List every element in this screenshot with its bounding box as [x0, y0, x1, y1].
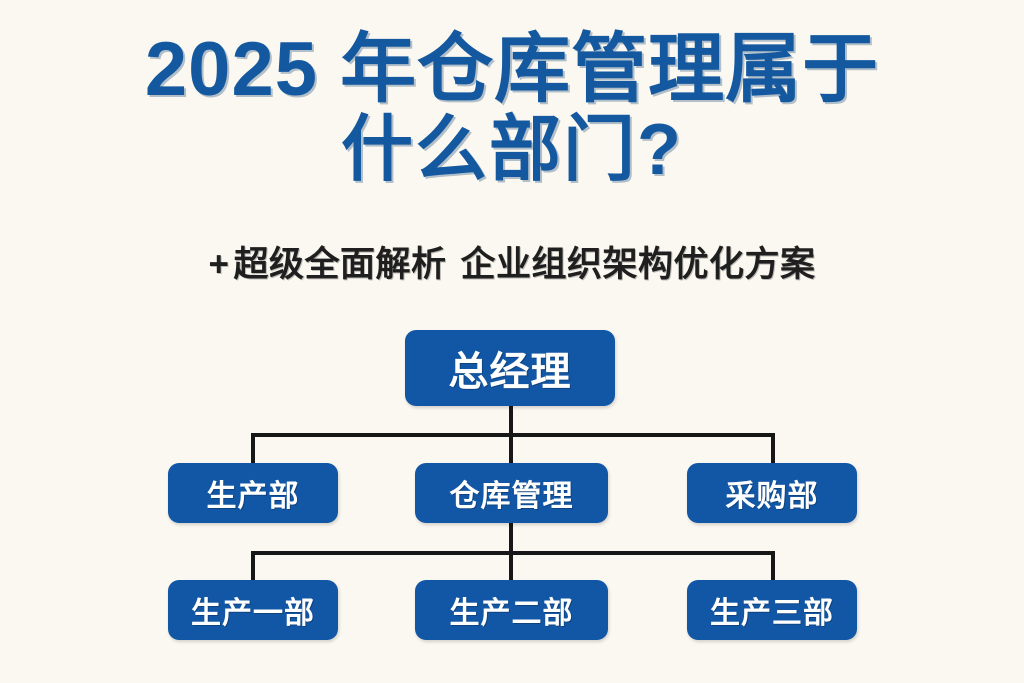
org-node-purchasing[interactable]: 采购部	[687, 463, 857, 523]
plus-sign: +	[209, 245, 230, 284]
connector-drop-warehouse	[509, 433, 513, 465]
page-subtitle-part-1: 超级全面解析	[233, 245, 446, 284]
poster-canvas: 2025 年仓库管理属于 什么部门? +超级全面解析企业组织架构优化方案 总经理…	[0, 0, 1024, 683]
connector-drop-production-2	[509, 551, 513, 583]
org-node-production-1[interactable]: 生产一部	[168, 580, 338, 640]
org-node-label: 总经理	[449, 339, 572, 397]
org-node-production-2[interactable]: 生产二部	[415, 580, 608, 640]
connector-level2-bar	[251, 433, 775, 437]
org-node-label: 采购部	[726, 471, 819, 515]
connector-drop-production	[251, 433, 255, 465]
connector-level3-bar	[251, 551, 775, 555]
page-title-line-2: 什么部门?	[0, 110, 1024, 190]
org-node-warehouse[interactable]: 仓库管理	[415, 463, 608, 523]
connector-drop-purchasing	[771, 433, 775, 465]
org-node-production-3[interactable]: 生产三部	[687, 580, 857, 640]
org-chart: 总经理 生产部 仓库管理 采购部 生产一部 生产二部 生产三部	[0, 310, 1024, 683]
org-node-label: 生产三部	[710, 588, 834, 632]
org-node-label: 仓库管理	[450, 471, 574, 515]
org-node-general-manager[interactable]: 总经理	[405, 330, 615, 406]
org-node-label: 生产二部	[450, 588, 574, 632]
connector-drop-production-3	[771, 551, 775, 583]
page-title: 2025 年仓库管理属于 什么部门?	[0, 30, 1024, 190]
page-subtitle: +超级全面解析企业组织架构优化方案	[0, 243, 1024, 287]
page-subtitle-part-2: 企业组织架构优化方案	[460, 245, 815, 284]
org-node-label: 生产一部	[191, 588, 315, 632]
org-node-production[interactable]: 生产部	[168, 463, 338, 523]
org-node-label: 生产部	[207, 471, 300, 515]
connector-drop-production-1	[251, 551, 255, 583]
connector-warehouse-stem	[509, 523, 513, 553]
page-title-line-1: 2025 年仓库管理属于	[0, 30, 1024, 110]
